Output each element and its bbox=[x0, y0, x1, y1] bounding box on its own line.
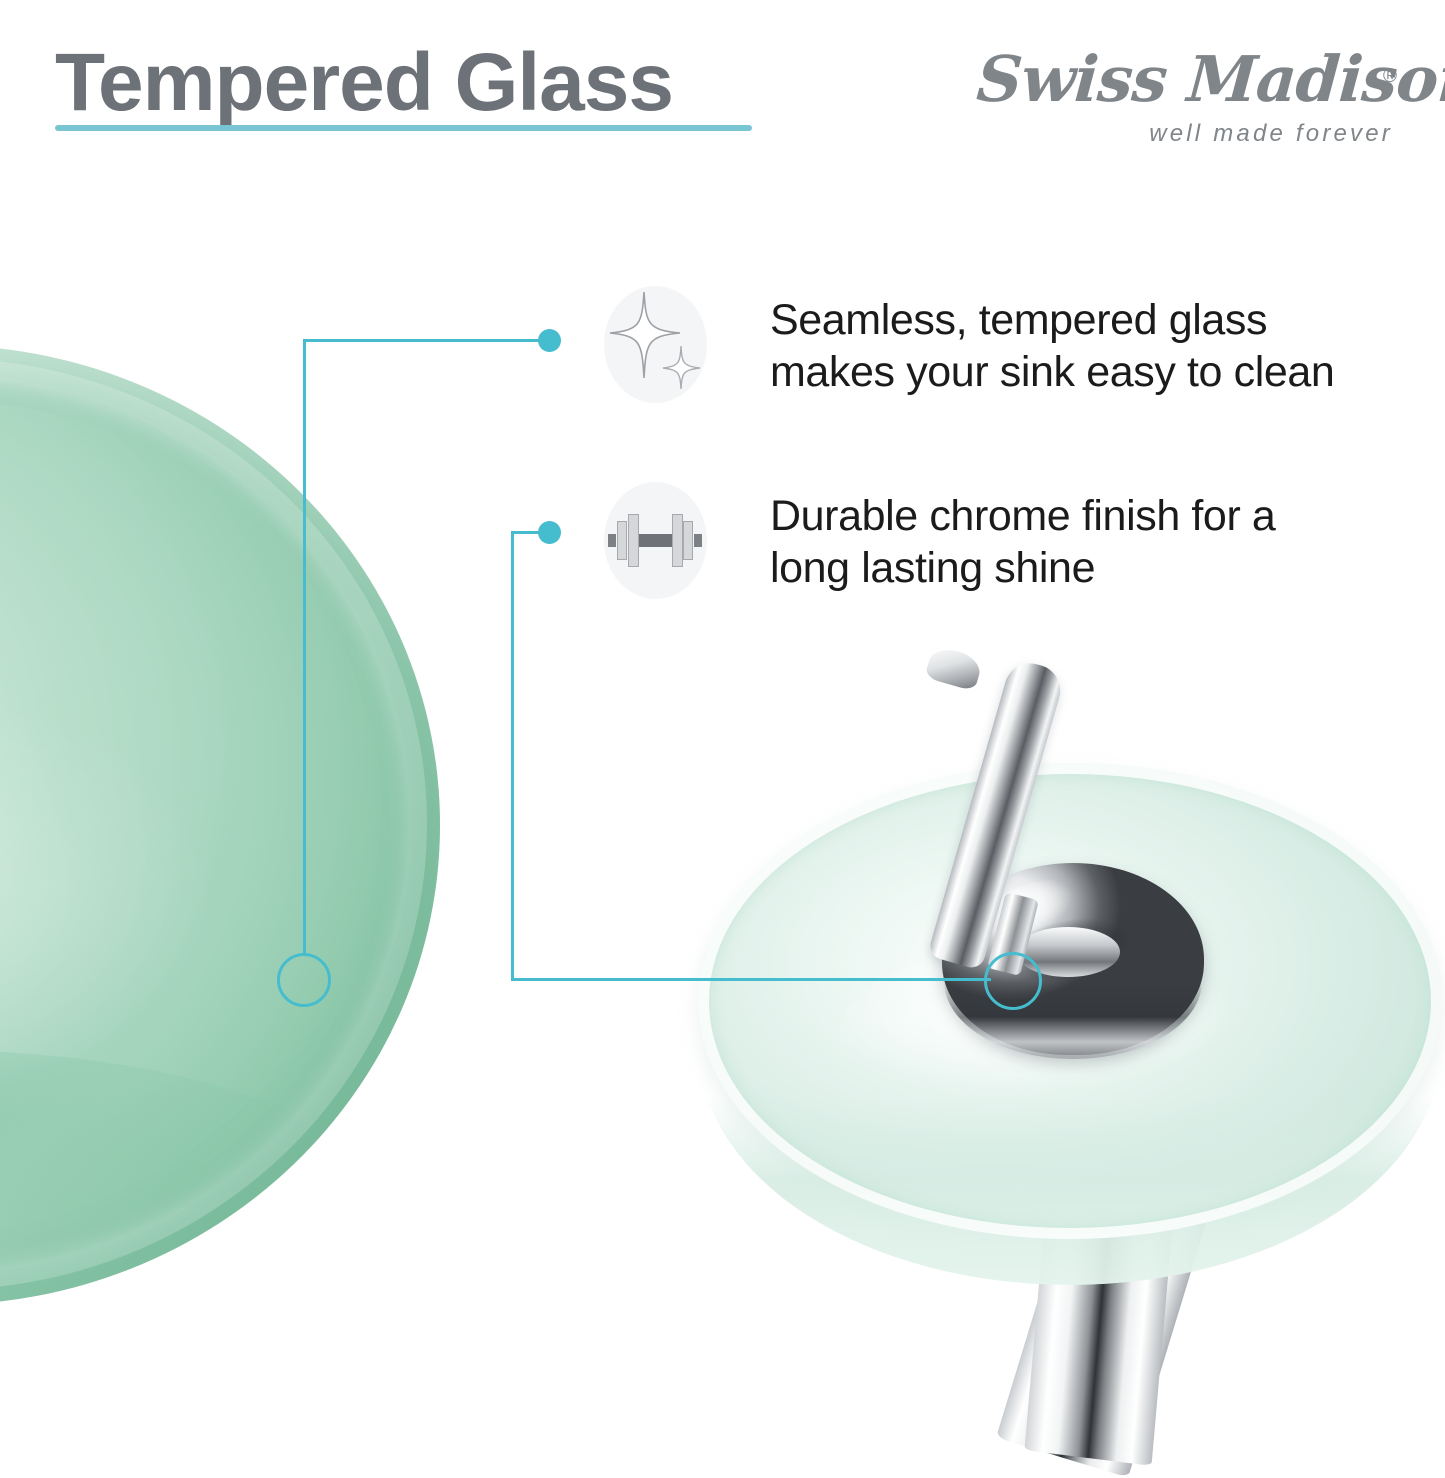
faucet-lever-tip bbox=[924, 644, 983, 691]
feature-label: Seamless, tempered glass makes your sink… bbox=[770, 294, 1350, 399]
callout-dot[interactable] bbox=[538, 329, 561, 352]
chrome-waterfall-faucet bbox=[690, 645, 1445, 1445]
brand-name: Swiss Madison bbox=[974, 42, 1379, 116]
callout-dot[interactable] bbox=[538, 521, 561, 544]
brand-tagline: well made forever bbox=[1149, 120, 1393, 148]
feature-row-durable-chrome: Durable chrome finish for a long lasting… bbox=[604, 482, 1364, 612]
callout-target-ring-sink[interactable] bbox=[277, 953, 331, 1007]
callout-line-vertical bbox=[303, 339, 306, 955]
page-title: Tempered Glass bbox=[55, 36, 673, 130]
dumbbell-icon bbox=[604, 482, 707, 599]
callout-line-vertical bbox=[511, 531, 514, 981]
registered-trademark-icon: ® bbox=[1383, 66, 1397, 88]
callout-line-horizontal bbox=[303, 339, 549, 342]
callout-target-ring-faucet[interactable] bbox=[984, 952, 1042, 1010]
sparkle-icon bbox=[604, 286, 707, 403]
infographic-canvas: Tempered Glass Swiss Madison ® well made… bbox=[0, 0, 1445, 1445]
callout-line-horizontal-2 bbox=[511, 978, 991, 981]
feature-row-seamless-glass: Seamless, tempered glass makes your sink… bbox=[604, 286, 1364, 416]
title-underline bbox=[55, 125, 752, 131]
feature-label: Durable chrome finish for a long lasting… bbox=[770, 490, 1350, 595]
brand-logo: Swiss Madison ® well made forever bbox=[977, 40, 1397, 152]
